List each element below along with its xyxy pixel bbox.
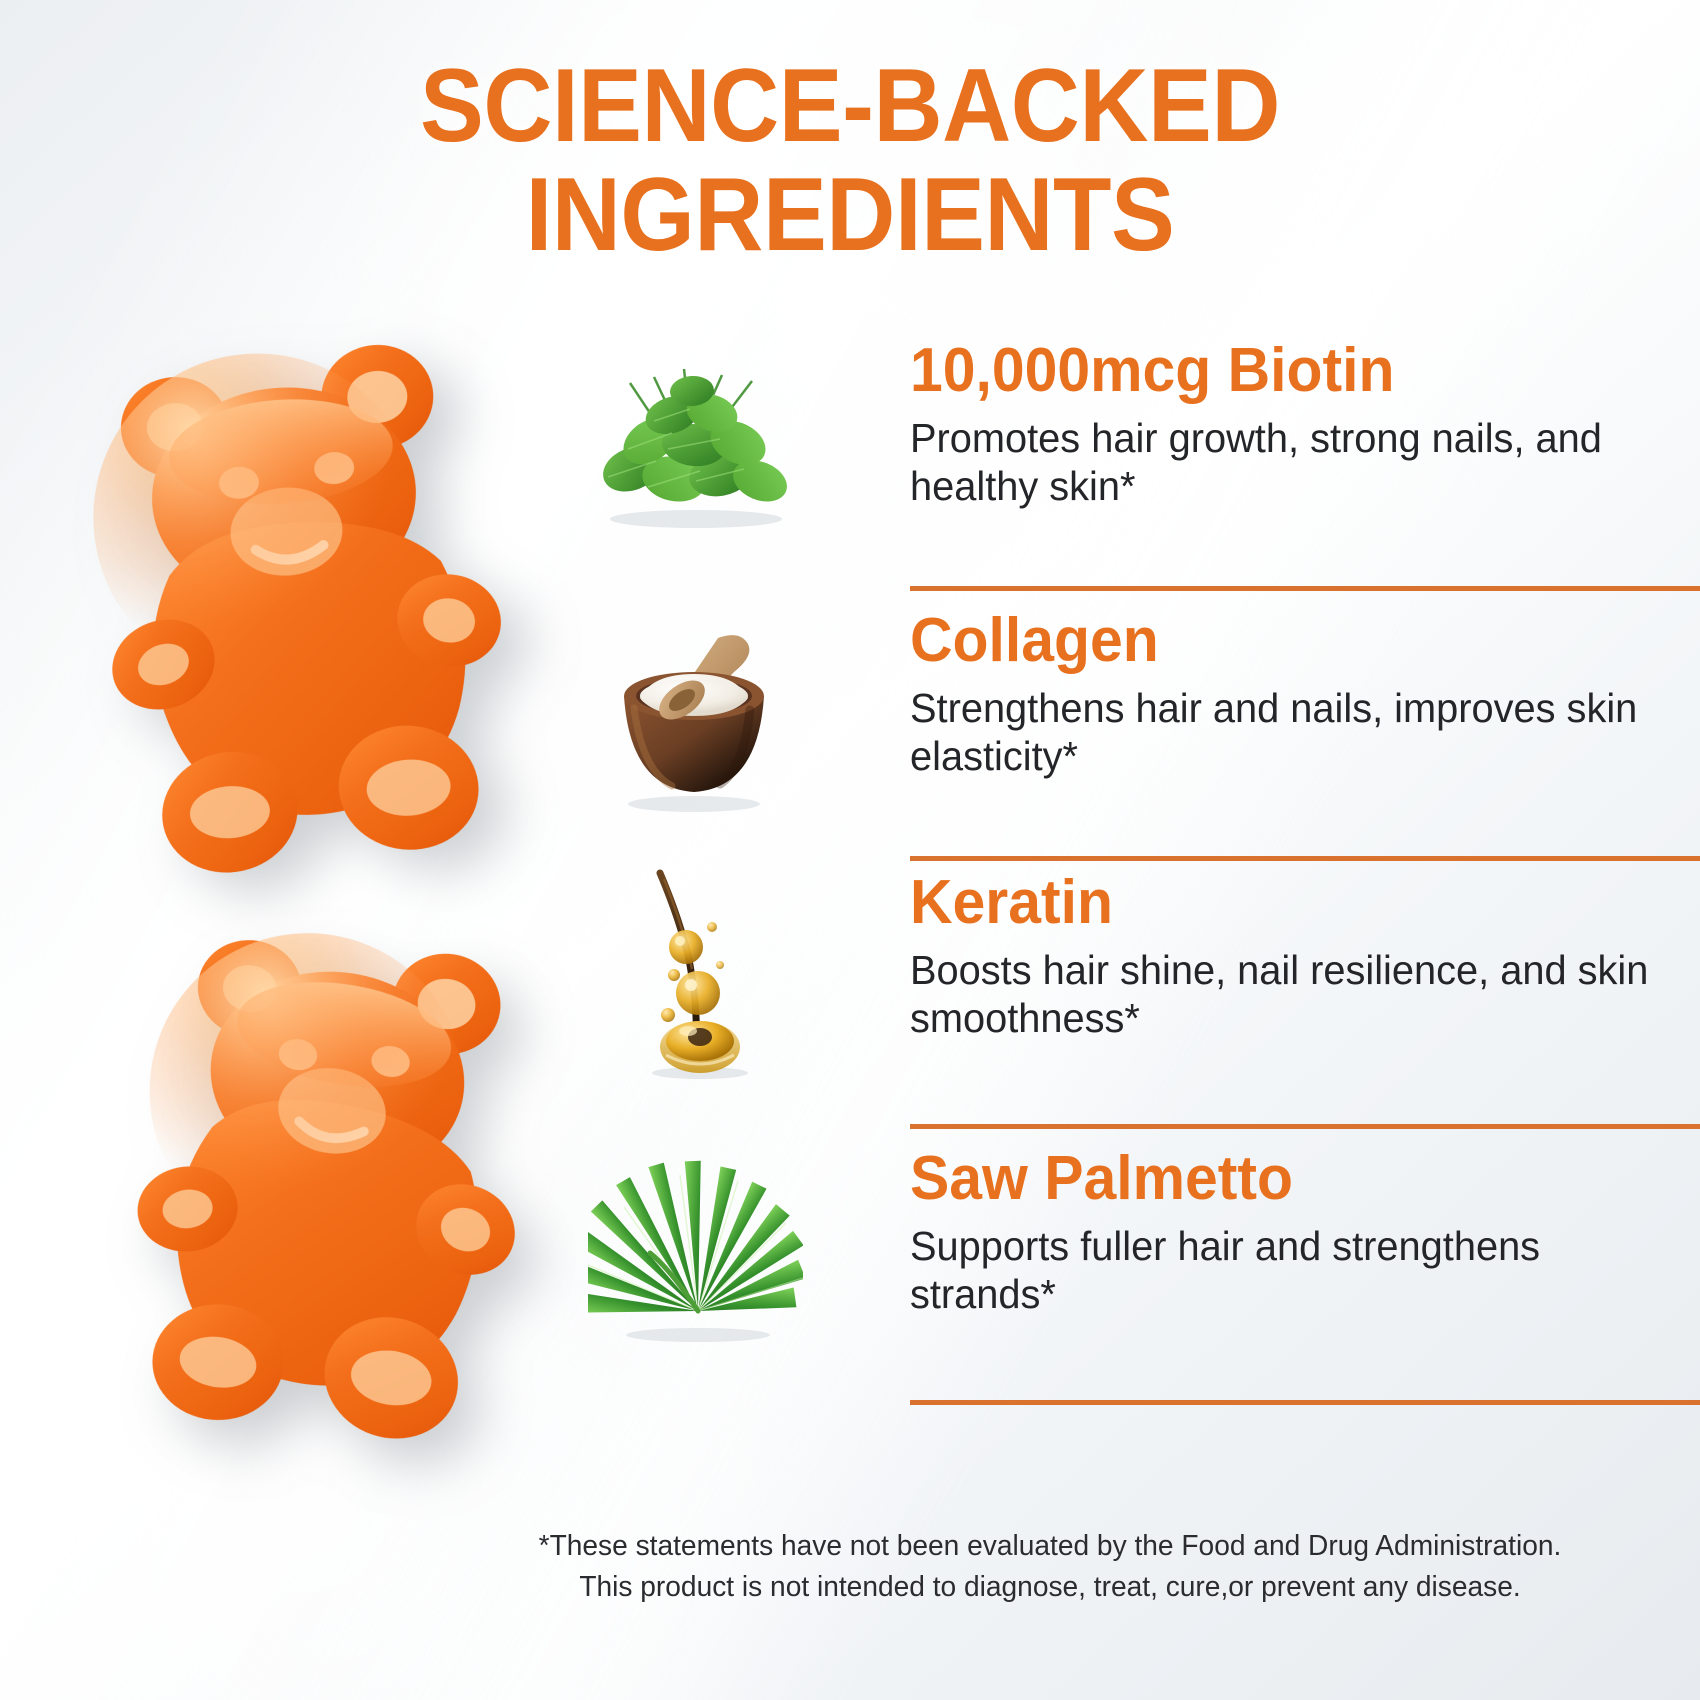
ingredient-divider-2 (910, 856, 1700, 861)
ingredient-title-keratin: Keratin (910, 872, 1661, 934)
ingredient-description-keratin: Boosts hair shine, nail resilience, and … (910, 946, 1676, 1043)
ingredient-text-block: Saw Palmetto Supports fuller hair and st… (910, 1148, 1700, 1319)
ingredient-description-saw-palmetto: Supports fuller hair and strengthens str… (910, 1222, 1676, 1319)
ingredient-text-block: Collagen Strengthens hair and nails, imp… (910, 610, 1700, 781)
ingredient-title-saw-palmetto: Saw Palmetto (910, 1148, 1661, 1210)
ingredient-divider-1 (910, 586, 1700, 591)
ingredient-title-collagen: Collagen (910, 610, 1661, 672)
spinach-leaves-icon (580, 340, 810, 540)
page-title: SCIENCE-BACKED INGREDIENTS (68, 52, 1632, 270)
keratin-hair-strand-icon (580, 872, 810, 1072)
saw-palmetto-frond-icon (580, 1148, 810, 1348)
ingredient-divider-4 (910, 1400, 1700, 1405)
ingredient-row-saw-palmetto: Saw Palmetto Supports fuller hair and st… (580, 1148, 1700, 1319)
page-title-line-2: INGREDIENTS (68, 161, 1632, 270)
ingredient-text-block: Keratin Boosts hair shine, nail resilien… (910, 872, 1700, 1043)
ingredient-divider-3 (910, 1124, 1700, 1129)
ingredient-row-biotin: 10,000mcg Biotin Promotes hair growth, s… (580, 340, 1700, 511)
ingredient-text-block: 10,000mcg Biotin Promotes hair growth, s… (910, 340, 1700, 511)
ingredient-row-keratin: Keratin Boosts hair shine, nail resilien… (580, 872, 1700, 1043)
ingredient-description-collagen: Strengthens hair and nails, improves ski… (910, 684, 1676, 781)
infographic-canvas: SCIENCE-BACKED INGREDIENTS (0, 0, 1700, 1700)
fda-disclaimer-line-1: *These statements have not been evaluate… (487, 1526, 1612, 1567)
ingredient-description-biotin: Promotes hair growth, strong nails, and … (910, 414, 1676, 511)
fda-disclaimer: *These statements have not been evaluate… (487, 1526, 1612, 1608)
fda-disclaimer-line-2: This product is not intended to diagnose… (487, 1567, 1612, 1608)
ingredient-row-collagen: Collagen Strengthens hair and nails, imp… (580, 610, 1700, 781)
collagen-powder-bowl-icon (580, 610, 810, 810)
ingredient-title-biotin: 10,000mcg Biotin (910, 340, 1661, 402)
page-title-line-1: SCIENCE-BACKED (68, 52, 1632, 161)
